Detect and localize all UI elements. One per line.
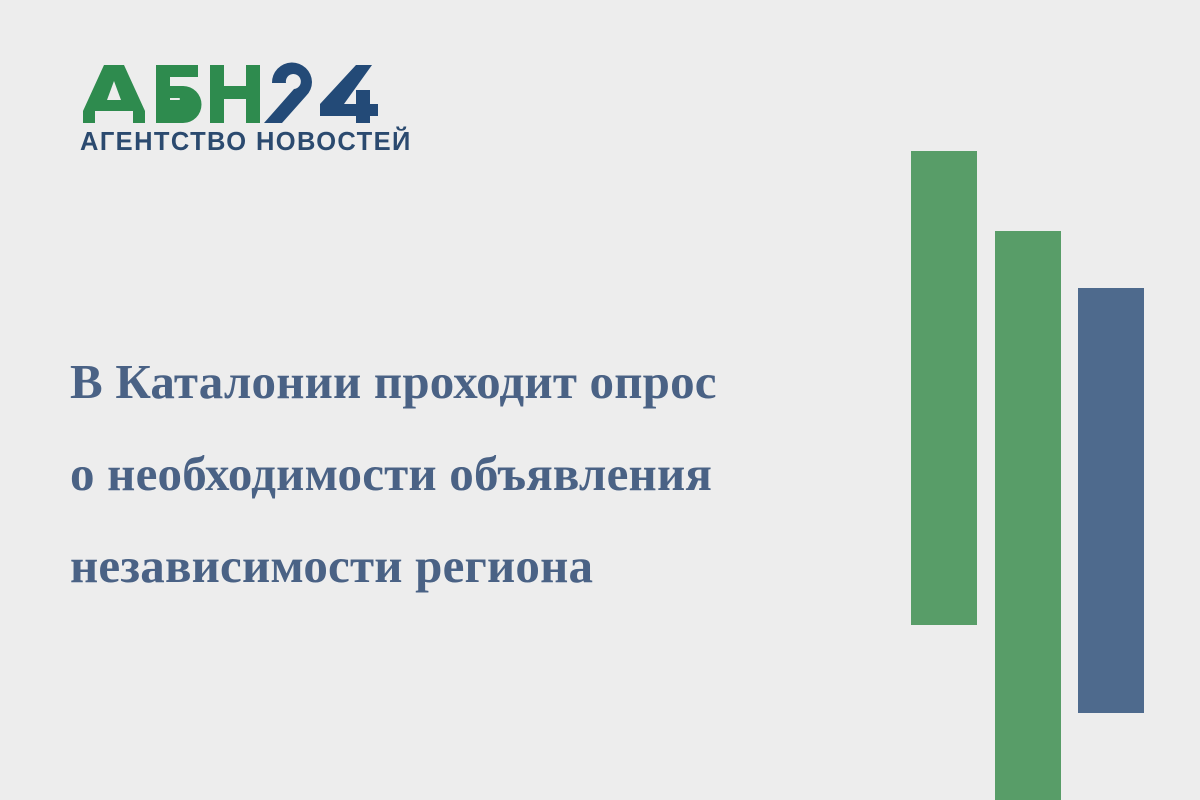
logo-letter-d	[83, 65, 145, 123]
brand-logo: АГЕНТСТВО НОВОСТЕЙ	[80, 62, 380, 156]
logo-digit-4	[320, 65, 378, 123]
bar-1-green	[911, 151, 977, 625]
logo-wordmark-icon	[80, 62, 380, 124]
headline-line-2: о необходимости объявления	[70, 428, 890, 520]
headline-line-1: В Каталонии проходит опрос	[70, 336, 890, 428]
logo-digit-2	[264, 62, 312, 123]
logo-subtitle: АГЕНТСТВО НОВОСТЕЙ	[80, 130, 380, 156]
headline: В Каталонии проходит опрос о необходимос…	[70, 336, 890, 612]
bar-3-blue	[1078, 288, 1144, 713]
logo-letter-n	[210, 65, 260, 123]
headline-line-3: независимости региона	[70, 520, 890, 612]
bar-2-green	[995, 231, 1061, 800]
news-card: АГЕНТСТВО НОВОСТЕЙ В Каталонии проходит …	[0, 0, 1200, 800]
